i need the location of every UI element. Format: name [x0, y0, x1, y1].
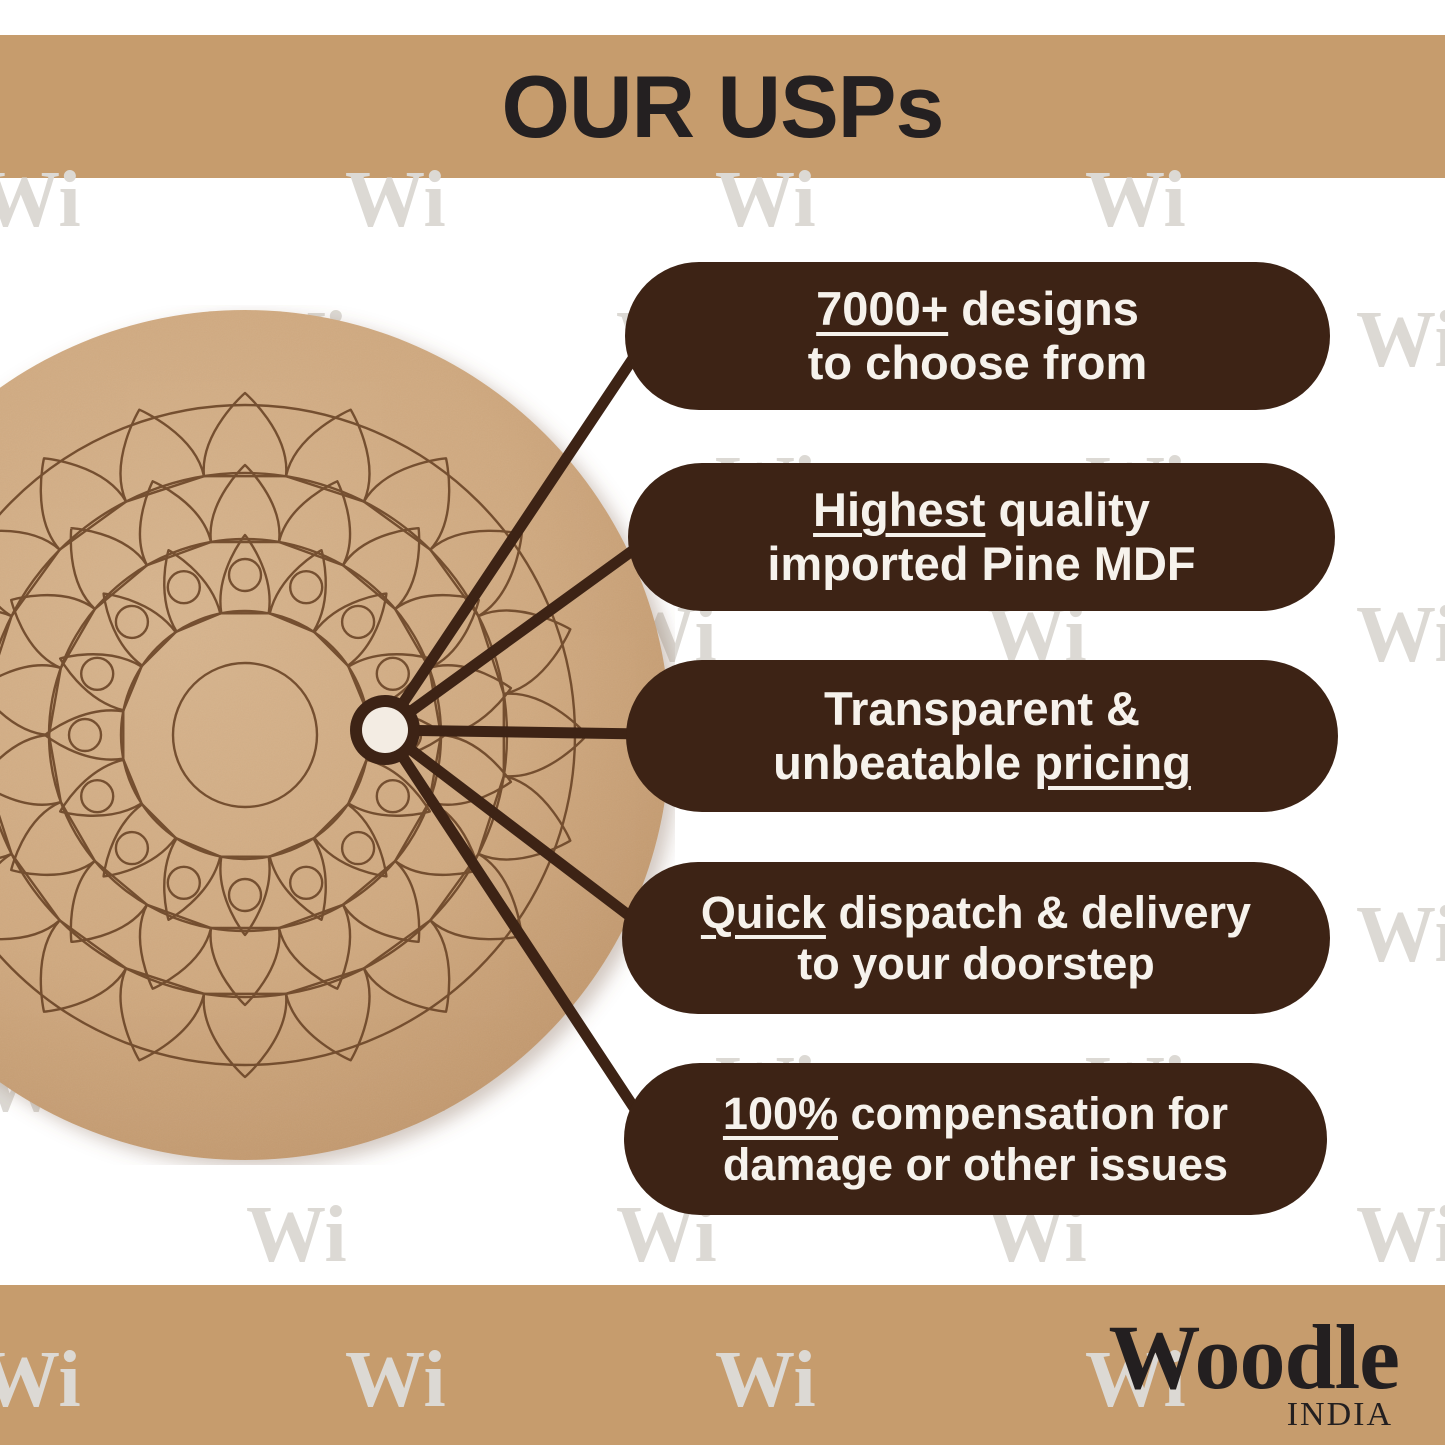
brand-logo: Woodle INDIA [999, 1312, 1399, 1434]
usp-line-1: 7000+ designs [816, 282, 1139, 336]
usp-line-1: Transparent & [824, 682, 1140, 736]
usp-highlight: Quick [701, 887, 826, 938]
usp-infographic: WiWiWiWiWiWiWiWiWiWiWiWiWiWiWiWiWiWiWiWi… [0, 0, 1445, 1445]
usp-line-1: 100% compensation for [723, 1088, 1228, 1139]
usp-line-1: Quick dispatch & delivery [701, 887, 1251, 938]
watermark-text: Wi [246, 1195, 347, 1275]
usp-highlight: Highest [813, 483, 985, 536]
page-title: OUR USPs [0, 35, 1445, 178]
mdf-mandala-round-base [0, 305, 675, 1165]
usp-card-dispatch[interactable]: Quick dispatch & delivery to your doorst… [622, 862, 1330, 1014]
brand-name: Woodle [999, 1312, 1399, 1402]
usp-card-compensation[interactable]: 100% compensation for damage or other is… [624, 1063, 1327, 1215]
usp-line-1: Highest quality [813, 483, 1150, 537]
usp-card-designs[interactable]: 7000+ designs to choose from [625, 262, 1330, 410]
usp-card-quality[interactable]: Highest quality imported Pine MDF [628, 463, 1335, 611]
usp-highlight: 7000+ [816, 282, 948, 335]
usp-card-pricing[interactable]: Transparent & unbeatable pricing [626, 660, 1338, 812]
watermark-text: Wi [1356, 1195, 1445, 1275]
usp-highlight: pricing [1034, 736, 1191, 789]
usp-line-2: damage or other issues [723, 1139, 1228, 1190]
usp-highlight: 100% [723, 1088, 838, 1139]
usp-line-2: to your doorstep [797, 938, 1155, 989]
watermark-text: Wi [1356, 595, 1445, 675]
usp-line-2: to choose from [808, 336, 1147, 390]
watermark-text: Wi [1356, 895, 1445, 975]
usp-line-2: imported Pine MDF [767, 537, 1195, 591]
watermark-text: Wi [1356, 300, 1445, 380]
usp-line-2: unbeatable pricing [773, 736, 1191, 790]
